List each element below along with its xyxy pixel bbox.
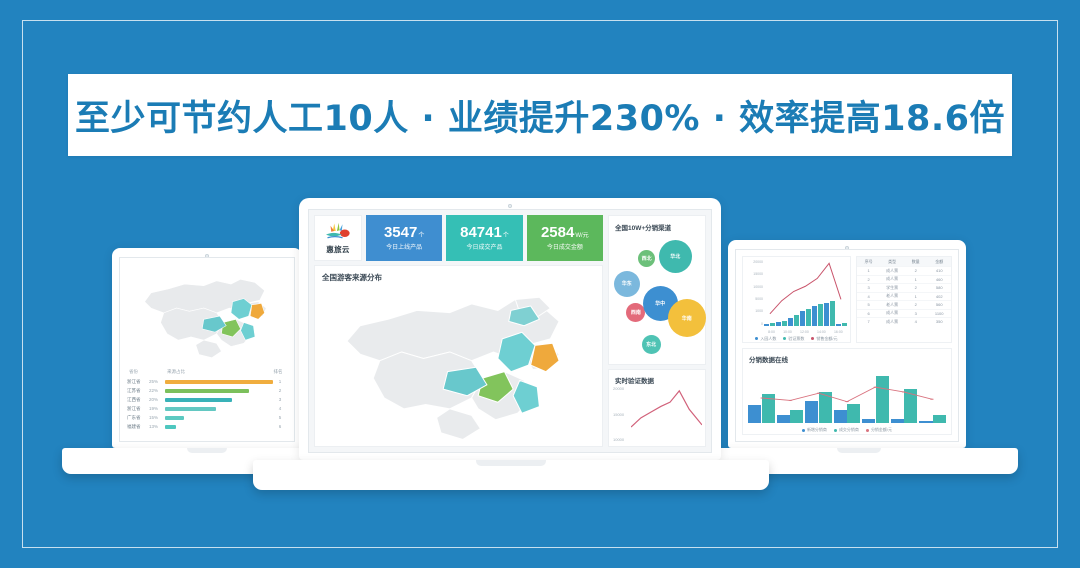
table-row: 6成人票31100	[857, 309, 951, 318]
laptop-center: 惠旅云 3547个今日上线产品84741个今日成交产品2584W/元今日成交金额…	[299, 198, 721, 460]
province-name: 浙江省	[127, 406, 149, 412]
headline-text: 至少可节约人工10人 · 业绩提升230% · 效率提高18.6倍	[75, 90, 1005, 141]
rank-index: 2	[273, 388, 287, 393]
rank-index: 3	[273, 397, 287, 402]
bar-fill	[165, 380, 273, 384]
distribution-legend: 新增分销商成交分销商分销金额/元	[743, 427, 951, 433]
laptop-center-base	[253, 460, 769, 490]
table-row: 1成人票2410	[857, 266, 951, 275]
kpi-label: 今日成交金额	[547, 242, 583, 251]
center-line-panel: 实时验证数据 200001500010000	[608, 369, 706, 447]
kpi-label: 今日上线产品	[386, 242, 422, 251]
ranking-row: 浙江省19%4	[127, 404, 287, 413]
table-cell: 402	[927, 294, 951, 299]
laptop-left-notch	[187, 448, 227, 453]
table-col-header: 金额	[927, 259, 951, 265]
y-tick: 20000	[613, 386, 631, 391]
legend-label: 新增分销商	[807, 427, 827, 433]
legend-dot	[802, 429, 805, 432]
kpi-value: 2584W/元	[541, 225, 589, 240]
combo-legend: 入园人数验证票数销售金额/元	[743, 336, 850, 342]
ranking-row: 广东省15%5	[127, 413, 287, 422]
bubble-panel-title: 全国10W+分销渠道	[615, 222, 699, 232]
bar-fill	[165, 398, 232, 402]
table-cell: 1	[857, 268, 881, 273]
right-data-table: 序号类型数量金额 1成人票24102成人票14603学生票25804老人票140…	[856, 256, 952, 343]
headline-banner: 至少可节约人工10人 · 业绩提升230% · 效率提高18.6倍	[68, 74, 1012, 156]
rank-index: 6	[273, 424, 287, 429]
legend-dot	[834, 429, 837, 432]
brand-name: 惠旅云	[326, 244, 349, 255]
table-cell: 成人票	[880, 319, 904, 325]
province-name: 广东省	[127, 415, 149, 421]
laptop-right-lid: 200001500010000500010000 8:0010:0012:001…	[728, 240, 966, 448]
kpi-card-3: 2584W/元今日成交金额	[527, 215, 603, 261]
bubble-华南: 华南	[668, 299, 706, 337]
province-name: 江西省	[127, 397, 149, 403]
legend-item: 验证票数	[783, 336, 804, 342]
kpi-card-2: 84741个今日成交产品	[446, 215, 522, 261]
table-cell: 580	[927, 285, 951, 290]
bar-track	[165, 425, 273, 429]
laptop-center-notch	[476, 460, 546, 466]
line-panel-title: 实时验证数据	[615, 375, 699, 385]
province-name: 江苏省	[127, 388, 149, 394]
table-col-header: 数量	[904, 259, 928, 265]
province-share: 19%	[149, 406, 165, 411]
kpi-label: 今日成交产品	[466, 242, 502, 251]
bubble-华东: 华东	[614, 271, 640, 297]
table-cell: 3	[904, 311, 928, 316]
legend-label: 入园人数	[760, 336, 776, 342]
legend-dot	[783, 337, 786, 340]
x-tick: 12:00	[800, 330, 809, 334]
province-share: 13%	[149, 424, 165, 429]
line-y-axis: 200001500010000	[613, 386, 631, 442]
devices-stage: 省份 来源占比 排名 浙江省25%1江苏省22%2江西省20%3浙江省19%4广…	[0, 180, 1080, 510]
table-cell: 1100	[927, 311, 951, 316]
province-share: 15%	[149, 415, 165, 420]
table-row: 7成人票4350	[857, 317, 951, 326]
laptop-left-lid: 省份 来源占比 排名 浙江省25%1江苏省22%2江西省20%3浙江省19%4广…	[112, 248, 302, 448]
brand-logo: 惠旅云	[314, 215, 362, 261]
bar-fill	[165, 425, 176, 429]
table-cell: 410	[927, 268, 951, 273]
laptop-right-notch	[837, 448, 881, 453]
laptop-center-screen: 惠旅云 3547个今日上线产品84741个今日成交产品2584W/元今日成交金额…	[308, 209, 712, 453]
ranking-header: 省份 来源占比 排名	[127, 369, 287, 377]
table-cell: 6	[857, 311, 881, 316]
kpi-row: 惠旅云 3547个今日上线产品84741个今日成交产品2584W/元今日成交金额	[314, 215, 603, 261]
legend-item: 销售金额/元	[811, 336, 837, 342]
bar-fill	[165, 416, 184, 420]
y-tick: 20000	[746, 260, 763, 264]
legend-label: 销售金额/元	[816, 336, 837, 342]
combo-x-axis: 8:0010:0012:0014:0016:00	[764, 330, 847, 334]
kpi-unit: W/元	[575, 233, 588, 239]
legend-dot	[811, 337, 814, 340]
bubble-东北: 东北	[642, 335, 661, 354]
table-cell: 成人票	[880, 310, 904, 316]
x-tick: 16:00	[834, 330, 843, 334]
table-col-header: 类型	[880, 259, 904, 265]
x-tick: 14:00	[817, 330, 826, 334]
legend-item: 入园人数	[755, 336, 776, 342]
y-tick: 10000	[746, 285, 763, 289]
table-cell: 5	[857, 302, 881, 307]
y-tick: 0	[746, 322, 763, 326]
province-share: 20%	[149, 397, 165, 402]
left-china-map	[127, 264, 287, 365]
bar-fill	[165, 407, 216, 411]
ranking-row: 江苏省22%2	[127, 386, 287, 395]
ranking-row: 江西省20%3	[127, 395, 287, 404]
bubble-西北: 西北	[638, 250, 655, 267]
realtime-line	[631, 388, 702, 431]
table-row: 2成人票1460	[857, 275, 951, 284]
kpi-unit: 个	[503, 233, 509, 239]
table-cell: 学生票	[880, 285, 904, 291]
legend-item: 新增分销商	[802, 427, 827, 433]
table-cell: 350	[927, 319, 951, 324]
kpi-unit: 个	[418, 233, 424, 239]
table-cell: 7	[857, 319, 881, 324]
x-tick: 8:00	[768, 330, 775, 334]
table-cell: 460	[927, 277, 951, 282]
laptop-right-screen: 200001500010000500010000 8:0010:0012:001…	[735, 249, 959, 442]
table-header: 序号类型数量金额	[857, 257, 951, 266]
kpi-card-1: 3547个今日上线产品	[366, 215, 442, 261]
y-tick: 15000	[746, 272, 763, 276]
table-cell: 老人票	[880, 293, 904, 299]
table-cell: 3	[857, 285, 881, 290]
table-cell: 2	[857, 277, 881, 282]
legend-label: 验证票数	[788, 336, 804, 342]
legend-dot	[755, 337, 758, 340]
legend-item: 分销金额/元	[866, 427, 892, 433]
table-cell: 2	[904, 285, 928, 290]
table-row: 3学生票2580	[857, 283, 951, 292]
y-tick: 5000	[746, 297, 763, 301]
right-combo-chart: 200001500010000500010000 8:0010:0012:001…	[742, 256, 851, 343]
bubble-华北: 华北	[659, 240, 692, 273]
y-tick: 10000	[613, 437, 631, 442]
kpi-value: 3547个	[384, 225, 424, 240]
y-tick: 1000	[746, 309, 763, 313]
ranking-row: 浙江省25%1	[127, 377, 287, 386]
laptop-center-lid: 惠旅云 3547个今日上线产品84741个今日成交产品2584W/元今日成交金额…	[299, 198, 721, 460]
laptop-left-screen: 省份 来源占比 排名 浙江省25%1江苏省22%2江西省20%3浙江省19%4广…	[119, 257, 295, 442]
table-row: 4老人票1402	[857, 292, 951, 301]
table-cell: 1	[904, 277, 928, 282]
table-row: 5老人票2560	[857, 300, 951, 309]
distribution-plot	[748, 363, 946, 423]
left-province-ranking: 省份 来源占比 排名 浙江省25%1江苏省22%2江西省20%3浙江省19%4广…	[127, 369, 287, 435]
kpi-value: 84741个	[460, 225, 509, 240]
laptop-left: 省份 来源占比 排名 浙江省25%1江苏省22%2江西省20%3浙江省19%4广…	[112, 248, 302, 448]
table-cell: 老人票	[880, 302, 904, 308]
province-share: 22%	[149, 388, 165, 393]
center-bubble-panel: 全国10W+分销渠道 华东西北华北西南华中华南东北	[608, 215, 706, 365]
province-share: 25%	[149, 379, 165, 384]
bar-fill	[165, 389, 249, 393]
legend-dot	[866, 429, 869, 432]
col-province: 省份	[129, 369, 151, 375]
table-cell: 4	[857, 294, 881, 299]
table-cell: 成人票	[880, 276, 904, 282]
ranking-row: 福建省13%6	[127, 422, 287, 431]
bar-track	[165, 407, 273, 411]
legend-label: 分销金额/元	[871, 427, 892, 433]
province-name: 浙江省	[127, 379, 149, 385]
laptop-right: 200001500010000500010000 8:0010:0012:001…	[728, 240, 966, 448]
table-cell: 成人票	[880, 268, 904, 274]
x-tick: 10:00	[783, 330, 792, 334]
webcam-dot	[508, 204, 512, 208]
table-cell: 2	[904, 302, 928, 307]
col-share: 来源占比	[167, 369, 271, 375]
col-rank: 排名	[271, 369, 285, 375]
y-tick: 15000	[613, 412, 631, 417]
province-name: 福建省	[127, 424, 149, 430]
table-col-header: 序号	[857, 259, 881, 265]
rank-index: 1	[273, 379, 287, 384]
legend-item: 成交分销商	[834, 427, 859, 433]
rank-index: 4	[273, 406, 287, 411]
center-china-map	[315, 282, 602, 446]
bar-track	[165, 416, 273, 420]
combo-plot	[764, 260, 847, 326]
bar-track	[165, 389, 273, 393]
center-map-panel: 全国游客来源分布	[314, 265, 603, 447]
right-distribution-chart: 分销数据在线 新增分销商成交分销商分销金额/元	[742, 348, 952, 435]
table-cell: 4	[904, 319, 928, 324]
huilvyun-logo-icon	[323, 222, 353, 243]
rank-index: 5	[273, 415, 287, 420]
table-cell: 560	[927, 302, 951, 307]
bar-track	[165, 398, 273, 402]
combo-y-axis: 200001500010000500010000	[746, 260, 763, 326]
legend-label: 成交分销商	[839, 427, 859, 433]
bar-track	[165, 380, 273, 384]
table-cell: 1	[904, 294, 928, 299]
table-cell: 2	[904, 268, 928, 273]
